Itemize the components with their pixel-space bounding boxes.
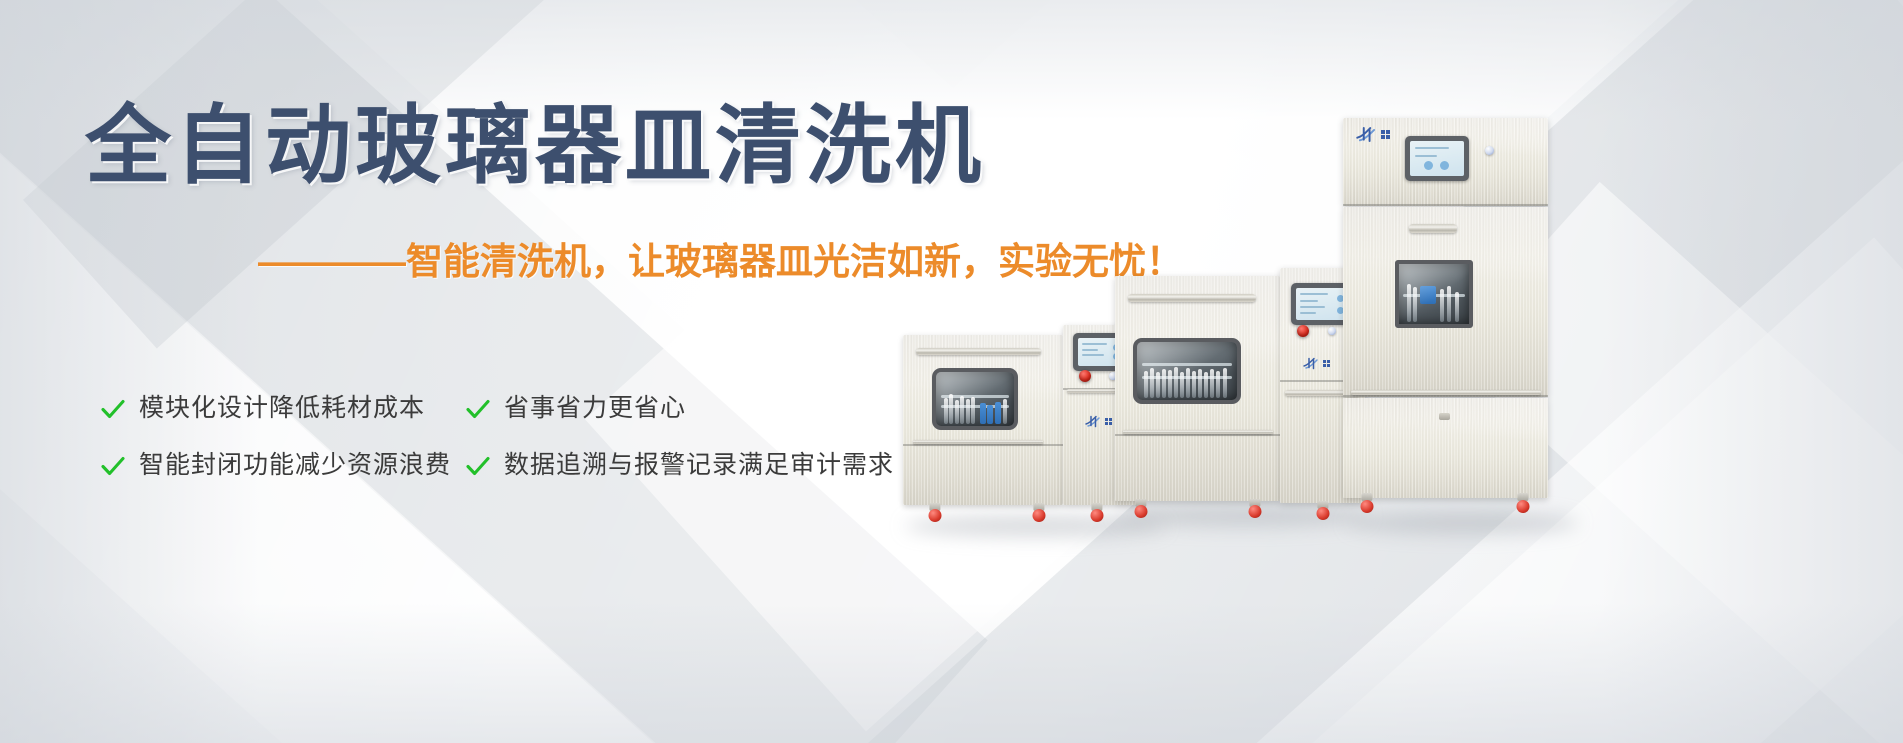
viewing-window: [932, 368, 1018, 430]
hmi-touchscreen[interactable]: [1405, 136, 1469, 181]
product-images: [893, 0, 1903, 743]
feature-row: 模块化设计降低耗材成本 省事省力更省心: [100, 380, 980, 437]
list-item: 模块化设计降低耗材成本: [100, 396, 465, 422]
check-icon: [465, 396, 491, 422]
list-item: 数据追溯与报警记录满足审计需求: [465, 453, 894, 479]
power-button[interactable]: [1328, 327, 1336, 335]
hmi-screen[interactable]: [1410, 141, 1464, 176]
lower-door-handle: [1123, 430, 1273, 434]
check-icon: [100, 453, 126, 479]
brand-logo: [1085, 415, 1112, 428]
viewing-window: [1395, 260, 1473, 328]
product-image-1: [903, 325, 1138, 515]
logo-squares: [1323, 360, 1330, 367]
power-button[interactable]: [1485, 146, 1494, 155]
base-cabinet: [1343, 398, 1548, 498]
caster-wheel: [1247, 499, 1263, 518]
viewing-window: [1133, 338, 1241, 404]
product-image-2: [1115, 268, 1365, 513]
check-icon: [465, 453, 491, 479]
washer-cabinet: [1115, 276, 1280, 501]
promo-banner: 全自动玻璃器皿清洗机 ————智能清洗机，让玻璃器皿光洁如新，实验无忧！ 模块化…: [0, 0, 1903, 743]
caster-wheel: [1515, 493, 1531, 513]
logo-squares: [1105, 418, 1112, 425]
door-handle: [1128, 294, 1256, 302]
base-latch[interactable]: [1439, 413, 1450, 420]
caster-wheel: [1133, 499, 1149, 518]
feature-label: 模块化设计降低耗材成本: [139, 396, 425, 421]
emergency-stop-button[interactable]: [1297, 325, 1309, 337]
washer-cabinet: [903, 335, 1063, 505]
caster-wheel: [1315, 501, 1331, 520]
check-icon: [100, 396, 126, 422]
feature-label: 智能封闭功能减少资源浪费: [139, 453, 451, 478]
caster-wheel: [927, 503, 943, 522]
caster-wheel: [1359, 493, 1375, 513]
feature-label: 省事省力更省心: [504, 396, 686, 421]
door-handle: [916, 348, 1041, 355]
emergency-stop-button[interactable]: [1079, 370, 1091, 382]
panel-seam: [1115, 434, 1280, 436]
washer-cabinet: [1343, 207, 1548, 397]
feature-list: 模块化设计降低耗材成本 省事省力更省心: [100, 380, 980, 494]
list-item: 智能封闭功能减少资源浪费: [100, 453, 465, 479]
brand-logo: [1303, 357, 1330, 370]
brand-logo: [1356, 126, 1390, 143]
page-title: 全自动玻璃器皿清洗机: [85, 103, 985, 189]
list-item: 省事省力更省心: [465, 396, 686, 422]
feature-label: 数据追溯与报警记录满足审计需求: [504, 453, 894, 478]
door-handle: [1409, 224, 1457, 233]
product-image-3: [1343, 118, 1548, 518]
feature-row: 智能封闭功能减少资源浪费 数据追溯与报警记录满足审计需求: [100, 437, 980, 494]
upper-control-head: [1343, 118, 1548, 206]
lower-door-handle: [1351, 390, 1541, 395]
caster-wheel: [1031, 503, 1047, 522]
panel-seam: [903, 444, 1063, 446]
lower-door-handle: [913, 440, 1043, 444]
logo-squares: [1381, 130, 1390, 139]
caster-wheel: [1089, 503, 1105, 522]
